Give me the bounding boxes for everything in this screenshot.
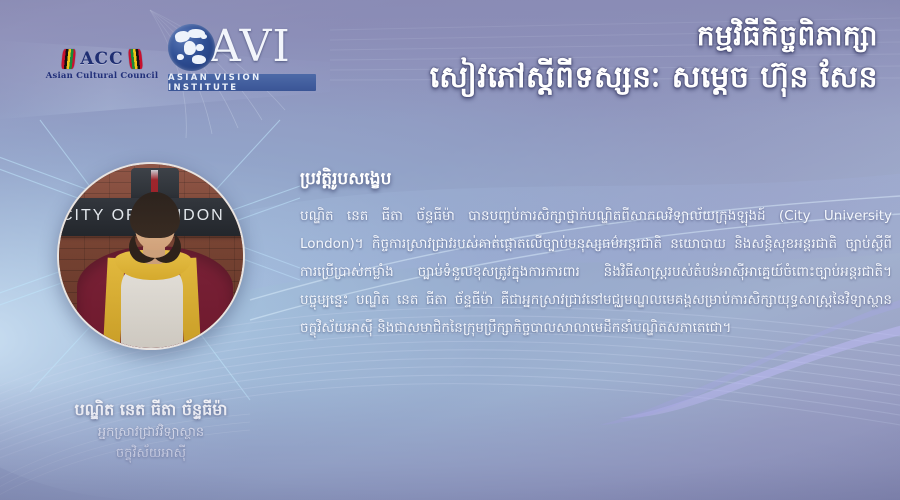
globe-icon — [168, 24, 215, 71]
speaker-portrait: CITY OF LONDON — [57, 162, 245, 350]
biography-paragraph: បណ្ឌិត នេត ធីតា ច័ន្ទធីម៉ា បានបញ្ចប់ការស… — [300, 202, 892, 342]
speaker-role-line-1: អ្នកស្រាវជ្រាវវិទ្យាស្ថាន — [22, 422, 280, 443]
speaker-role-line-2: ចក្ខុវិស័យអាស៊ី — [22, 443, 280, 464]
speaker-caption: បណ្ឌិត នេត ធីតា ច័ន្ទធីម៉ា អ្នកស្រាវជ្រា… — [22, 398, 280, 464]
ribbon-flag-icon — [128, 49, 143, 69]
biography-section: ប្រវត្តិរូបសង្ខេប បណ្ឌិត នេត ធីតា ច័ន្ទធ… — [300, 168, 892, 342]
promo-card: ACC Asian Cultural Council AVI ASIAN VIS… — [0, 0, 900, 500]
title-group: កម្មវិធីកិច្ចពិភាក្សា សៀវភៅស្តីពីទស្សនៈ … — [238, 16, 878, 100]
episode-title: សៀវភៅស្តីពីទស្សនៈ សម្តេច ហ៊ុន សែន — [238, 56, 878, 100]
speaker-name: បណ្ឌិត នេត ធីតា ច័ន្ទធីម៉ា — [22, 398, 280, 422]
program-title: កម្មវិធីកិច្ចពិភាក្សា — [238, 16, 878, 56]
acc-full-name: Asian Cultural Council — [46, 71, 159, 81]
ribbon-flag-icon — [61, 49, 76, 69]
acc-abbrev: ACC — [80, 49, 123, 69]
biography-heading: ប្រវត្តិរូបសង្ខេប — [300, 168, 892, 193]
acc-logo: ACC Asian Cultural Council — [42, 36, 162, 94]
portrait-shading — [59, 164, 243, 348]
acc-logo-row: ACC — [62, 49, 141, 69]
